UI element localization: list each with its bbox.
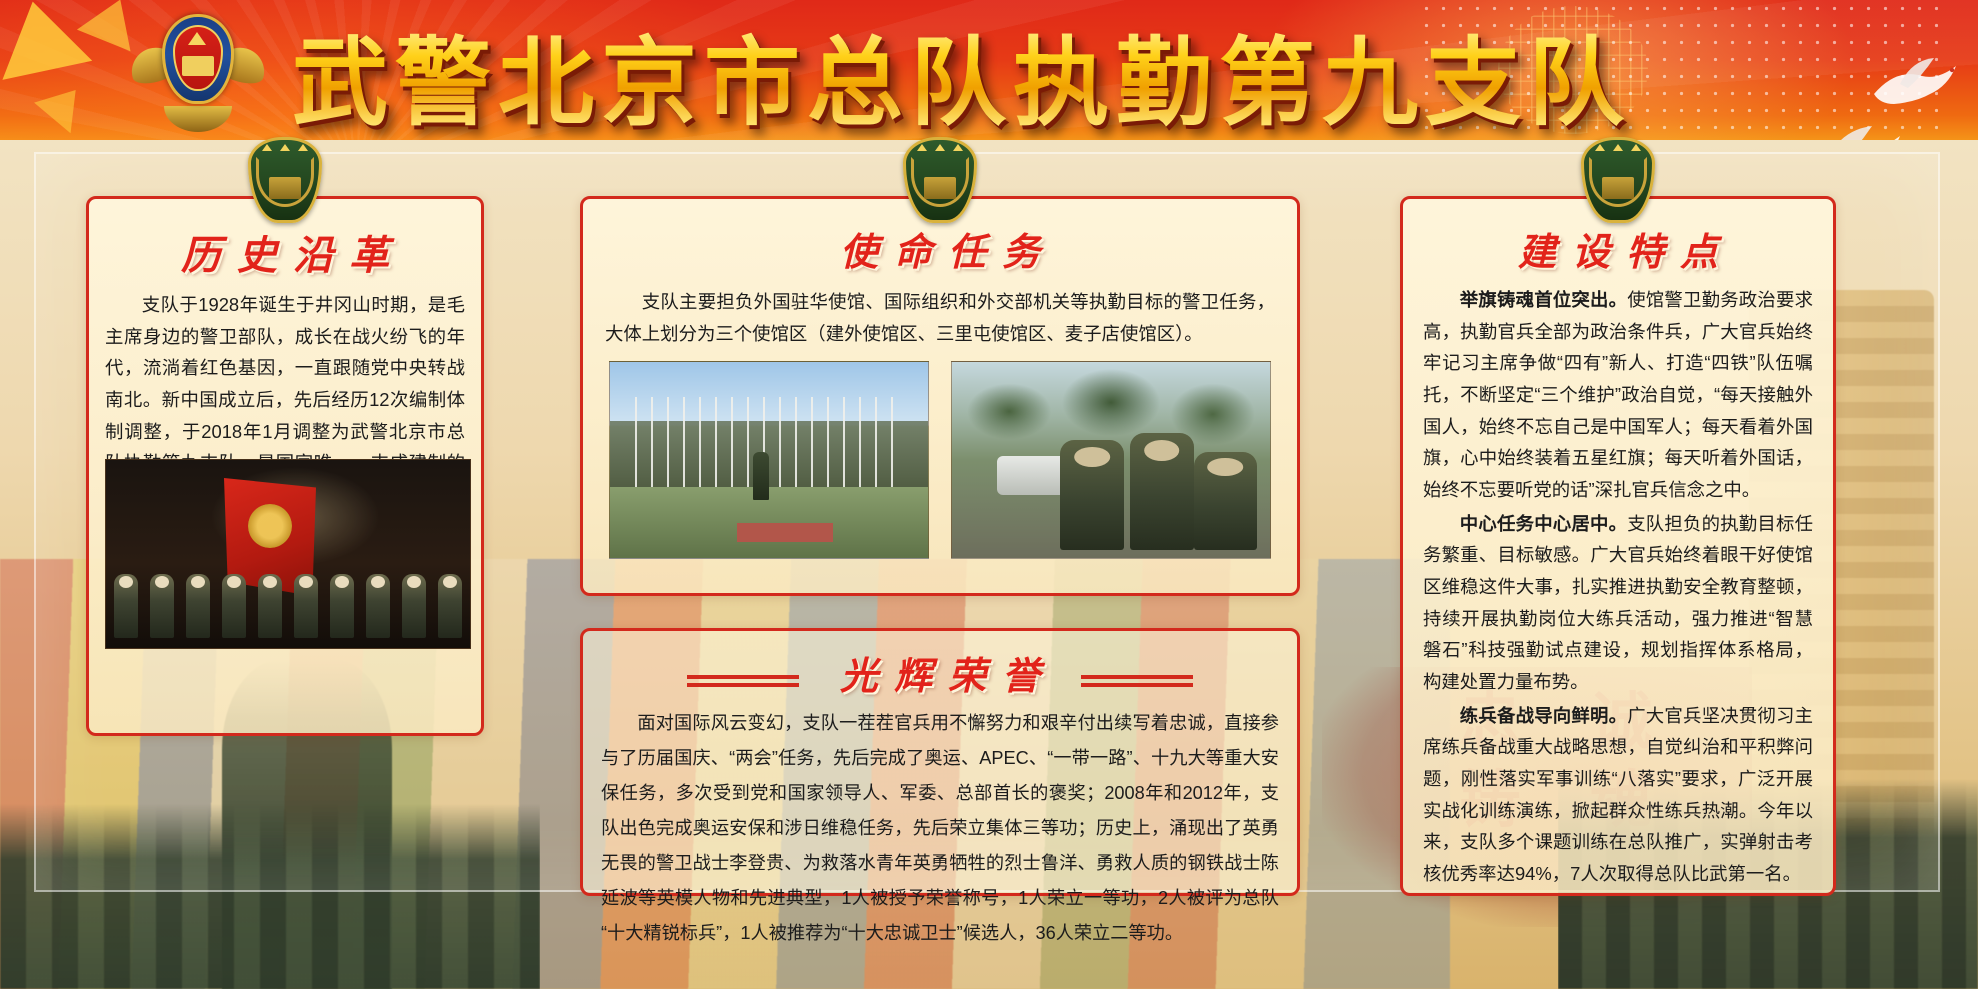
armed-police-badge-icon [1581, 137, 1655, 223]
photo-armed-patrol: 武装巡逻 [951, 361, 1271, 559]
photo-ceremony-caption: 授旗仪式合影 [106, 460, 107, 461]
star-icon [34, 75, 94, 133]
header-banner: 武警北京市总队执勤第九支队 [0, 0, 1978, 148]
panel-title-mission: 使命任务 [583, 221, 1297, 276]
armed-police-badge-icon [903, 137, 977, 223]
photo-embassy-caption: 使馆区哨位 [610, 362, 611, 363]
panel-honors: 光辉荣誉 面对国际风云变幻，支队一茬茬官兵用不懈努力和艰辛付出续写着忠诚，直接参… [580, 628, 1300, 896]
feature-paragraph: 练兵备战导向鲜明。广大官兵坚决贯彻习主席练兵备战重大战略思想，自觉纠治和平积弊问… [1423, 700, 1813, 890]
panel-mission: 使命任务 支队主要担负外国驻华使馆、国际组织和外交部机关等执勤目标的警卫任务，大… [580, 196, 1300, 596]
feature-text: 支队担负的执勤目标任务繁重、目标敏感。广大官兵始终着眼干好使馆区维稳这件大事，扎… [1423, 513, 1813, 692]
feature-paragraph: 举旗铸魂首位突出。使馆警卫勤务政治要求高，执勤官兵全部为政治条件兵，广大官兵始终… [1423, 284, 1813, 506]
title-rule-right [1081, 675, 1193, 687]
dove-icon [1864, 54, 1964, 124]
mission-photo-row: 使馆区哨位 武装巡逻 [609, 361, 1271, 559]
armed-police-badge-icon [248, 137, 322, 223]
page-title: 武警北京市总队执勤第九支队 [292, 14, 1852, 134]
star-icon [0, 0, 92, 80]
panel-title-features: 建设特点 [1403, 221, 1833, 276]
feature-lead: 中心任务中心居中。 [1460, 513, 1627, 534]
feature-lead: 举旗铸魂首位突出。 [1460, 289, 1627, 310]
troops-formation-photo-left [0, 804, 540, 989]
panel-body-mission: 支队主要担负外国驻华使馆、国际组织和外交部机关等执勤目标的警卫任务，大体上划分为… [583, 276, 1297, 349]
panel-title-history: 历史沿革 [89, 223, 481, 281]
feature-text: 广大官兵坚决贯彻习主席练兵备战重大战略思想，自觉纠治和平积弊问题，刚性落实军事训… [1423, 705, 1813, 884]
feature-lead: 练兵备战导向鲜明。 [1460, 705, 1627, 726]
title-rule-left [687, 675, 799, 687]
photo-embassy-post: 使馆区哨位 [609, 361, 929, 559]
propaganda-board: 武警北京市总队执勤第九支队 忠 诚 铸 魂 历史沿革 支队于1928年诞生于井冈… [0, 0, 1978, 989]
feature-text: 使馆警卫勤务政治要求高，执勤官兵全部为政治条件兵，广大官兵始终牢记习主席争做“四… [1423, 289, 1813, 500]
panel-title-honors: 光辉荣誉 [583, 645, 1297, 700]
panel-features: 建设特点 举旗铸魂首位突出。使馆警卫勤务政治要求高，执勤官兵全部为政治条件兵，广… [1400, 196, 1836, 896]
panel-body-features: 举旗铸魂首位突出。使馆警卫勤务政治要求高，执勤官兵全部为政治条件兵，广大官兵始终… [1403, 276, 1833, 889]
armed-police-badge-icon [142, 6, 254, 138]
panel-body-honors: 面对国际风云变幻，支队一茬茬官兵用不懈努力和艰辛付出续写着忠诚，直接参与了历届国… [583, 700, 1297, 951]
panel-history: 历史沿革 支队于1928年诞生于井冈山时期，是毛主席身边的警卫部队，成长在战火纷… [86, 196, 484, 736]
feature-paragraph: 中心任务中心居中。支队担负的执勤目标任务繁重、目标敏感。广大官兵始终着眼干好使馆… [1423, 508, 1813, 698]
photo-ceremony: 授旗仪式合影 [105, 459, 471, 649]
